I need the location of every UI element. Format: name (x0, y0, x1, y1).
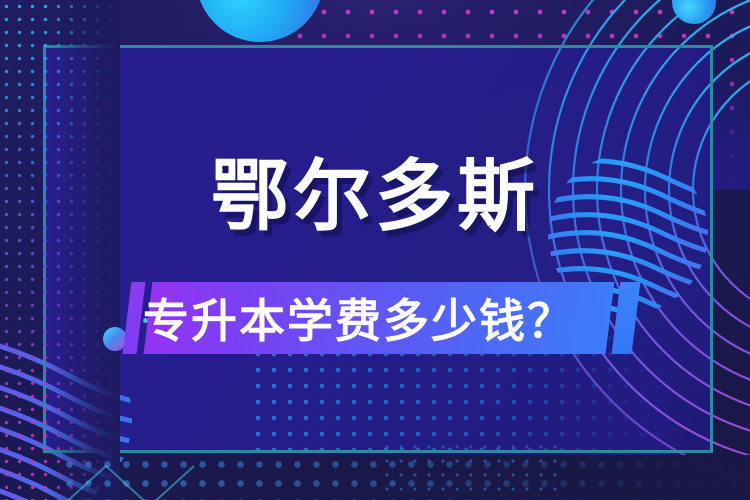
subtitle-banner: 专升本学费多少钱？ (0, 282, 750, 354)
chevron-outline-icon (62, 458, 202, 500)
halftone-dot-column-fade (0, 0, 120, 500)
bottom-right-small-dot-field (380, 440, 560, 500)
decorative-frame-border (43, 45, 713, 453)
subtitle-text: 专升本学费多少钱？ (0, 282, 750, 354)
page-title: 鄂尔多斯 (0, 158, 750, 236)
poster-canvas: 鄂尔多斯 专升本学费多少钱？ (0, 0, 750, 500)
